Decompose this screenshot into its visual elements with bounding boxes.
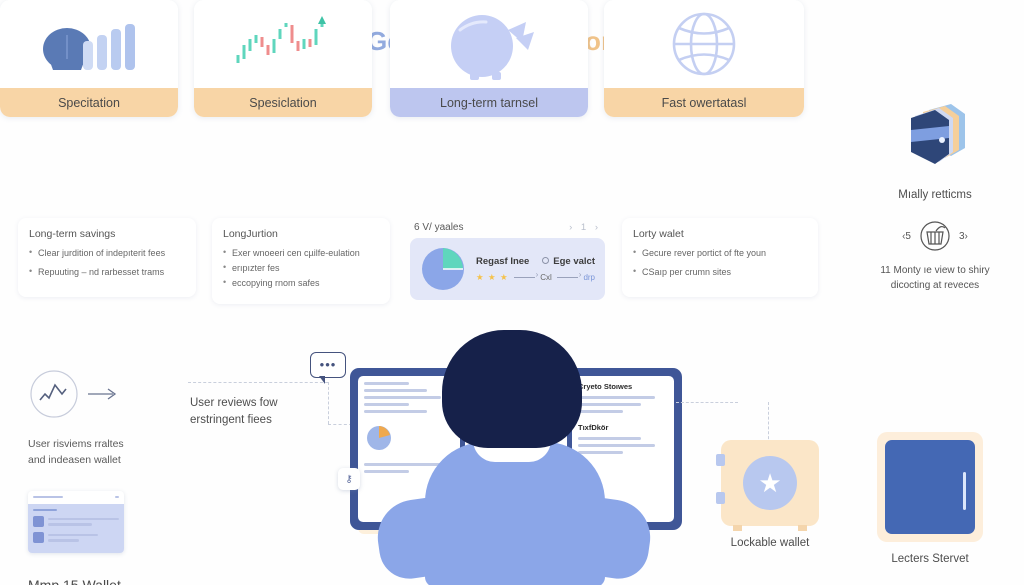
panel-label: 6 V/ yaales (414, 222, 463, 233)
mid-bottom-group: User reviews fow erstringent fiees (190, 395, 320, 430)
feature-card-4-bullet-2: CSaıp per crumn sites (633, 266, 807, 279)
lecters-stervet-group: Lecters Stervet (872, 432, 988, 565)
column-5-caption: 11 Monty ıe view to shiry dicocting at r… (855, 263, 1015, 293)
piggy-bank-icon (390, 0, 588, 88)
column-5: Mıally retticms ‹5 3› 11 Monty ıe view t… (855, 96, 1015, 293)
feature-card-3-header: Long-term tarnsel (390, 88, 588, 117)
mid-bottom-caption-line-1: User reviews fow (190, 395, 320, 412)
column-5-label: Mıally retticms (855, 189, 1015, 201)
bar-chart-icon (0, 0, 178, 88)
feature-card-1[interactable]: Specitation (0, 0, 178, 117)
person-back-view-icon (425, 442, 605, 585)
mid-bottom-caption: User reviews fow erstringent fiees (190, 395, 320, 430)
stacked-cards-icon (855, 96, 1015, 181)
column-5-caption-line-1: 11 Monty ıe view to shiry (855, 263, 1015, 278)
rating-stars: ★ ★ ★ (476, 272, 509, 283)
panel-link[interactable]: drp (583, 273, 595, 282)
connector-line-4 (676, 402, 738, 403)
arrow-connector-icon-2 (557, 277, 579, 278)
chat-bubble-icon: ••• (310, 352, 346, 378)
lockable-wallet-label: Lockable wallet (712, 537, 828, 549)
feature-card-2-bullet-1: Exer wnoeeri cen cµilfe-eulation (223, 247, 379, 260)
feature-card-4-bullet-1: Gecure rever portict of fte youn (633, 247, 807, 260)
door-handle-icon (963, 472, 966, 510)
feature-card-3-panel: 6 V/ yaales › 1 › Regasf Inee Ege valct … (410, 222, 605, 300)
feature-card-4-body-title: Lorty walet (633, 228, 807, 240)
feature-card-1-bullet-1: Clear jurdition of indepıterit fees (29, 247, 185, 260)
door-panel-icon (877, 432, 983, 542)
dashboard-panel-subtitle: TıxfDkör (578, 423, 668, 432)
bottom-left-caption-line-2: and indeasen wallet (28, 452, 208, 468)
feature-card-1-body: Long-term savings Clear jurdition of ind… (18, 218, 196, 297)
globe-icon (604, 0, 804, 88)
bottom-left-caption-line-1: User risviems rraltes (28, 436, 208, 452)
lockable-wallet-group: ★ Lockable wallet (712, 440, 828, 549)
connector-line-5 (768, 402, 769, 444)
center-scene: ••• $ (330, 330, 710, 585)
person-head (442, 330, 582, 448)
illustration-canvas: How it Gettig' a Startes for Citcoth UI … (0, 0, 1024, 585)
feature-card-4[interactable]: Fast owertatasl (604, 0, 804, 117)
arrow-connector-icon (514, 277, 536, 278)
dashboard-panel-title: Cryeto Stoıwes (578, 382, 668, 391)
key-badge-icon: ⚷ (338, 468, 360, 490)
pie-chart-icon (420, 246, 466, 292)
bottom-left-group: User risviems rraltes and indeasen walle… (28, 368, 208, 585)
bottom-left-label: Mmp 15 Wallet (28, 577, 208, 585)
feature-card-1-bullet-2: Repuuting – nd rarbesset trams (29, 266, 185, 279)
panel-radio-option[interactable]: Ege valct (542, 256, 595, 267)
arrow-right-icon (88, 387, 118, 401)
feature-card-1-header: Specitation (0, 88, 178, 117)
safe-vault-icon: ★ (721, 440, 819, 526)
feature-card-2-body: LongJurtion Exer wnoeeri cen cµilfe-eula… (212, 218, 390, 304)
widget-card-icon[interactable] (28, 491, 124, 554)
feature-card-1-body-title: Long-term savings (29, 228, 185, 240)
feature-card-4-body: Lorty walet Gecure rever portict of fte … (622, 218, 818, 297)
panel-mid-text: Cxl (540, 273, 552, 282)
prev-page-label[interactable]: ‹5 (902, 231, 911, 242)
basket-icon (918, 219, 952, 253)
candlestick-chart-icon (194, 0, 372, 88)
mid-bottom-caption-line-2: erstringent fiees (190, 412, 320, 429)
bottom-left-caption: User risviems rraltes and indeasen walle… (28, 436, 208, 469)
next-page-label[interactable]: 3› (959, 231, 968, 242)
panel-primary-text: Regasf Inee (476, 256, 529, 267)
feature-card-3[interactable]: Long-term tarnsel (390, 0, 588, 117)
connector-line-2 (328, 382, 329, 424)
feature-card-2-body-title: LongJurtion (223, 228, 379, 240)
feature-card-2-bullet-2: erıpızter fes (223, 262, 379, 275)
column-5-caption-line-2: dicocting at reveces (855, 278, 1015, 293)
panel-pagination[interactable]: › 1 › (569, 222, 601, 233)
feature-card-2-bullet-3: eccopying rnom safes (223, 277, 379, 290)
connector-line-1 (188, 382, 328, 383)
feature-card-4-header: Fast owertatasl (604, 88, 804, 117)
radio-icon[interactable] (542, 257, 549, 264)
column-5-pagination[interactable]: ‹5 3› (855, 219, 1015, 253)
lecters-stervet-label: Lecters Stervet (872, 553, 988, 565)
line-chart-circle-icon (28, 368, 80, 420)
feature-card-2[interactable]: Spesiclation (194, 0, 372, 117)
feature-card-2-header: Spesiclation (194, 88, 372, 117)
